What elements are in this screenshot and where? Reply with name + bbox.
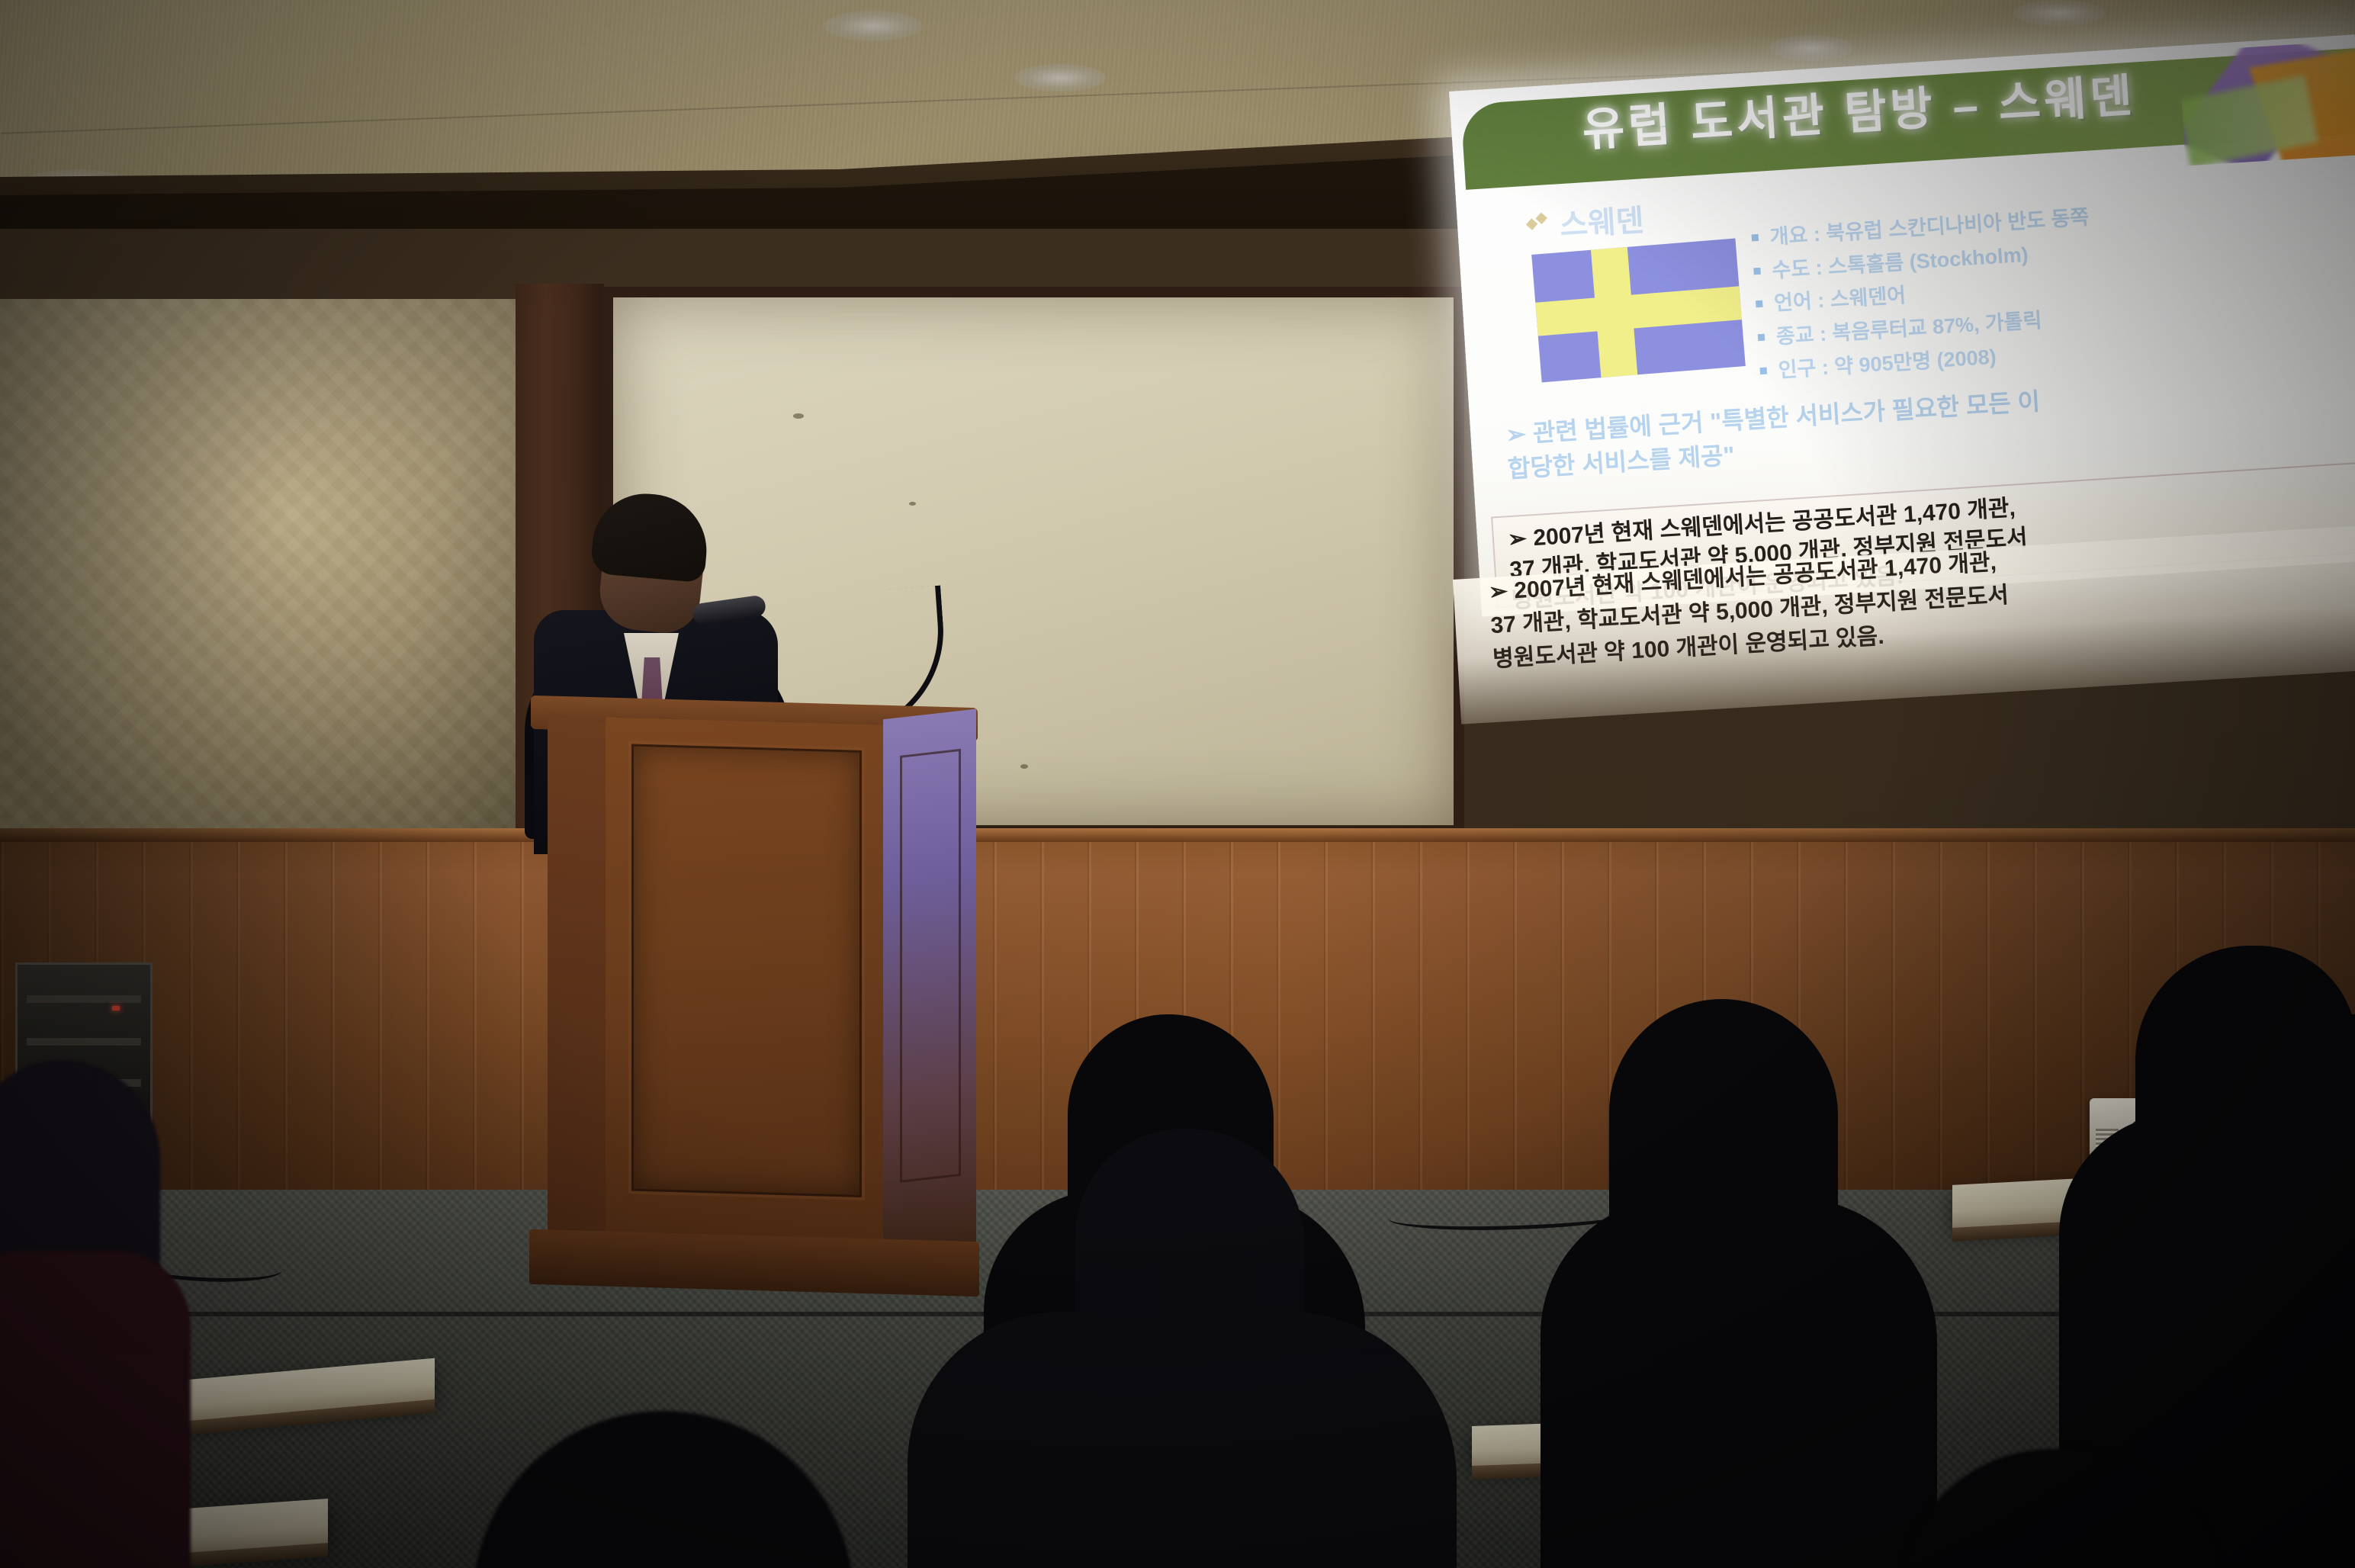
ceiling-downlight-dim-3 — [1769, 35, 1853, 61]
ceiling-downlight-dim-1 — [824, 11, 923, 41]
whiteboard-mark-4 — [909, 502, 916, 506]
audience-edge-right — [2288, 1014, 2355, 1568]
diamond-bullet-icon — [1527, 214, 1548, 235]
flag-horizontal-bar — [1535, 286, 1742, 336]
slide-subtitle-text: 스웨덴 — [1558, 195, 1645, 245]
audience-body-right-1 — [1541, 1197, 1937, 1568]
podium-right-face — [883, 709, 976, 1254]
audience-body-left — [0, 1251, 191, 1568]
wall-panel-left — [0, 299, 526, 833]
lecture-hall-photo: 유럽 도서관 탐방 – 스웨덴 스웨덴 개요 : 북유럽 스칸디나비아 반도 동… — [0, 0, 2355, 1568]
sweden-flag-icon — [1531, 238, 1746, 382]
wall-panel-shading — [0, 299, 526, 833]
podium-left-face — [548, 712, 613, 1251]
ceiling-downlight-dim-2 — [1014, 64, 1106, 92]
podium-front-face — [606, 718, 888, 1259]
presentation-slide: 유럽 도서관 탐방 – 스웨덴 스웨덴 개요 : 북유럽 스칸디나비아 반도 동… — [1449, 34, 2355, 616]
podium — [548, 696, 961, 1302]
slide-subtitle: 스웨덴 — [1526, 195, 1645, 246]
podium-panel-inset — [631, 744, 862, 1197]
country-facts-list: 개요 : 북유럽 스칸디나비아 반도 동쪽 수도 : 스톡홀름 (Stockho… — [1749, 184, 2355, 389]
podium-base — [529, 1229, 979, 1296]
slide-quote-block: ➢ 관련 법률에 근거 "특별한 서비스가 필요한 모든 이 합당한 서비스를 … — [1505, 363, 2355, 487]
ceiling-downlight-dim-5 — [2013, 0, 2105, 26]
av-rack-led — [112, 1006, 120, 1011]
audience-body-center-front — [908, 1312, 1457, 1568]
podium-right-inset — [900, 749, 961, 1183]
projection-screen: 유럽 도서관 탐방 – 스웨덴 스웨덴 개요 : 북유럽 스칸디나비아 반도 동… — [1449, 34, 2355, 616]
whiteboard-mark-3 — [1020, 764, 1028, 769]
whiteboard-mark-1 — [793, 413, 804, 419]
